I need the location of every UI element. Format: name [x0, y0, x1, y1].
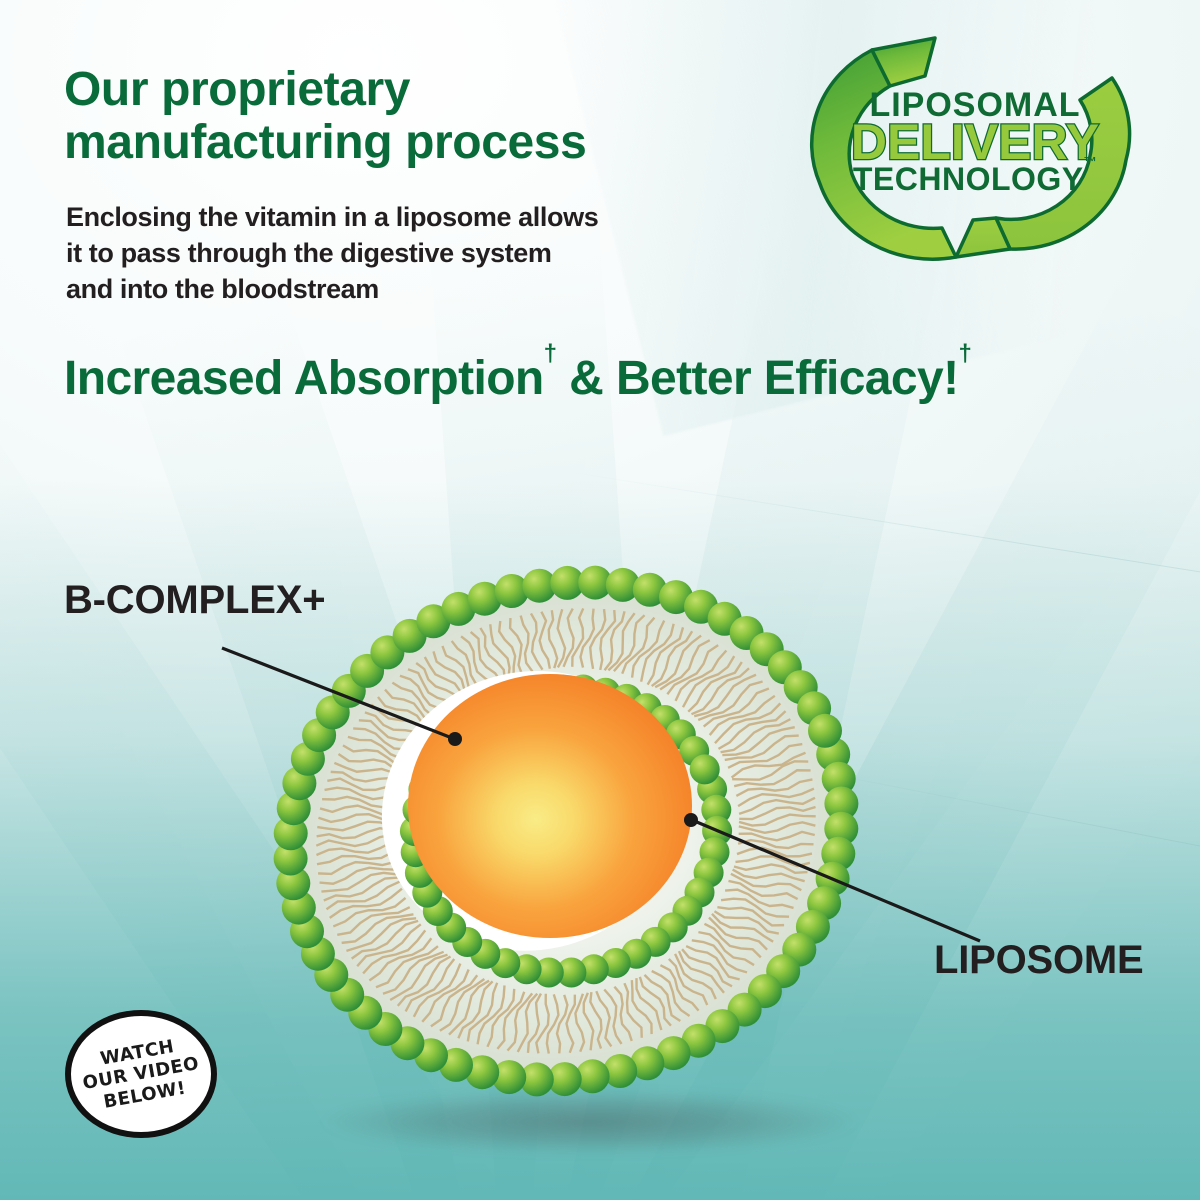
page-subtitle: Enclosing the vitamin in a liposome allo… — [66, 200, 746, 308]
page-title: Our proprietary manufacturing process — [64, 64, 744, 170]
promo-graphic: Our proprietary manufacturing process En… — [0, 0, 1200, 1200]
dagger-symbol-1: † — [544, 340, 557, 367]
liposomal-delivery-technology-logo: LIPOSOMAL DELIVERY TECHNOLOGY™ — [760, 14, 1190, 272]
liposome-cross-section-icon — [256, 566, 876, 1096]
badge-circle-icon — [62, 1008, 220, 1140]
liposome-illustration — [256, 566, 876, 1096]
recycle-arrows-icon — [760, 14, 1190, 272]
dagger-symbol-2: † — [958, 340, 971, 367]
liposome-drop-shadow — [320, 1090, 860, 1154]
claim-efficacy: & Better Efficacy! — [556, 352, 958, 405]
vitamin-core-sphere — [408, 674, 692, 938]
label-b-complex: B-COMPLEX+ — [64, 578, 325, 623]
claim-text: Increased Absorption† & Better Efficacy!… — [64, 355, 1184, 403]
watch-video-badge[interactable]: WATCH OUR VIDEO BELOW! — [62, 1008, 220, 1140]
lipid-head-sphere — [808, 714, 842, 748]
label-liposome: LIPOSOME — [934, 938, 1144, 983]
lipid-head-sphere — [690, 754, 720, 784]
claim-absorption: Increased Absorption — [64, 352, 544, 405]
